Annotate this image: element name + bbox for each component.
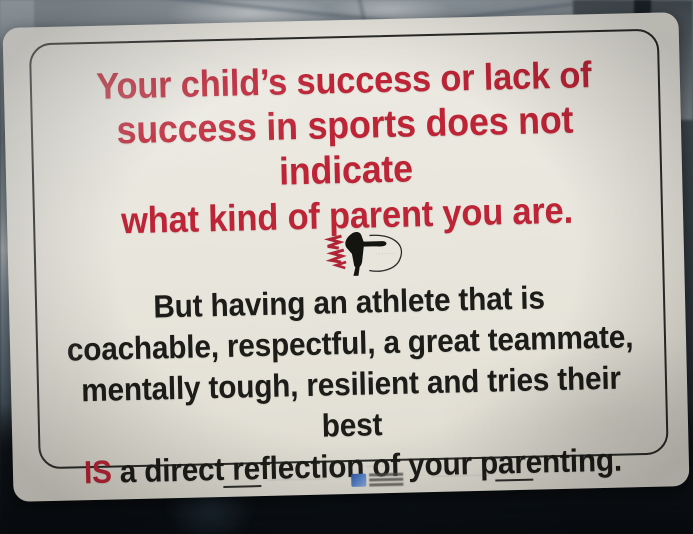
sign-body-text: But having an athlete that is coachable,… bbox=[64, 275, 638, 493]
footer-contact-text: ······························ bbox=[267, 477, 326, 484]
footer-website-text: ····························· bbox=[432, 473, 489, 480]
sign-headline: Your child’s success or lack of success … bbox=[59, 51, 632, 244]
footer-sponsor-label: ················ bbox=[341, 463, 415, 470]
sign-footer: ······························ ·········… bbox=[223, 458, 534, 495]
footer-sponsor-wordmark bbox=[369, 473, 403, 487]
footer-sponsor-badge: ················ bbox=[341, 463, 416, 489]
footer-rule-right bbox=[495, 479, 533, 482]
footer-rule-left bbox=[223, 485, 261, 488]
body-accent-word: IS bbox=[84, 454, 113, 491]
photograph: Your child’s success or lack of success … bbox=[0, 0, 693, 534]
athlete-silhouette-logo: · · · · · · · bbox=[311, 224, 416, 278]
headline-line-2: success in sports does not indicate bbox=[60, 96, 631, 199]
body-line-3: mentally tough, resilient and tries thei… bbox=[66, 357, 637, 452]
footer-sponsor-logo-icon bbox=[351, 474, 366, 487]
svg-text:· · · · · · ·: · · · · · · · bbox=[376, 251, 394, 256]
sign-panel: Your child’s success or lack of success … bbox=[3, 12, 690, 502]
